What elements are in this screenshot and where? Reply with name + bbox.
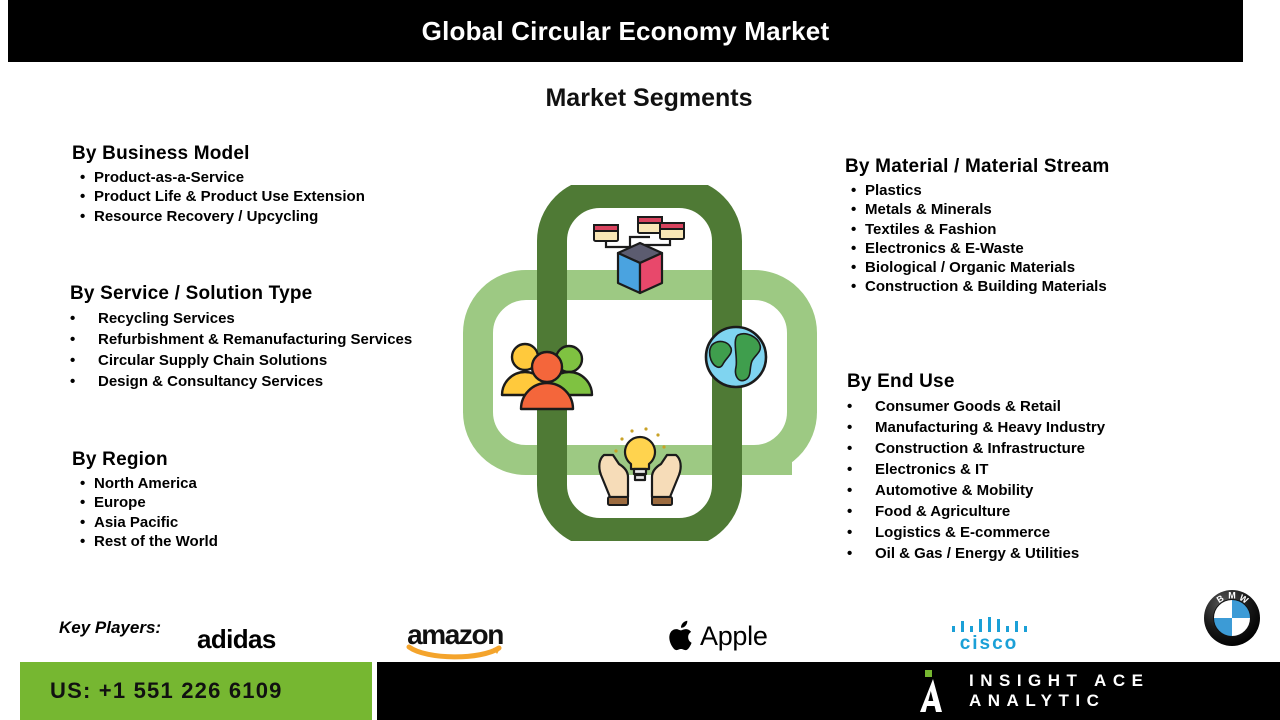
- list-item: •Electronics & E-Waste: [851, 239, 1110, 258]
- list-item: •Europe: [80, 493, 218, 512]
- list-item-label: Biological / Organic Materials: [865, 258, 1075, 277]
- adidas-wordmark: adidas: [197, 624, 276, 654]
- segment-heading: By Service / Solution Type: [70, 283, 412, 305]
- list-item: •North America: [80, 474, 218, 493]
- list-item-label: Consumer Goods & Retail: [875, 396, 1061, 417]
- segment-heading: By Region: [72, 449, 218, 471]
- bullet-icon: •: [80, 532, 94, 551]
- logo-cisco: cisco: [950, 617, 1028, 654]
- list-item-label: Europe: [94, 493, 146, 512]
- segment-material-stream: By Material / Material Stream •Plastics …: [845, 156, 1110, 297]
- list-item: •Plastics: [851, 181, 1110, 200]
- list-item: •Textiles & Fashion: [851, 220, 1110, 239]
- bullet-icon: •: [80, 168, 94, 187]
- segment-heading: By End Use: [847, 371, 1105, 393]
- bullet-icon: •: [847, 459, 875, 480]
- list-item-label: Circular Supply Chain Solutions: [98, 350, 327, 371]
- list-item-label: Product-as-a-Service: [94, 168, 244, 187]
- list-item: •Product Life & Product Use Extension: [80, 187, 365, 206]
- segment-list: •Product-as-a-Service •Product Life & Pr…: [72, 168, 365, 226]
- segment-heading: By Material / Material Stream: [845, 156, 1110, 178]
- list-item: •Logistics & E-commerce: [847, 522, 1105, 543]
- list-item-label: Electronics & IT: [875, 459, 988, 480]
- phone-number[interactable]: US: +1 551 226 6109: [50, 678, 283, 704]
- logo-amazon: amazon: [405, 622, 505, 660]
- bullet-icon: •: [851, 200, 865, 219]
- hands-lightbulb-icon: [599, 427, 680, 505]
- bullet-icon: •: [851, 258, 865, 277]
- segment-service-solution-type: By Service / Solution Type •Recycling Se…: [70, 283, 412, 392]
- list-item: •Resource Recovery / Upcycling: [80, 207, 365, 226]
- list-item: •Oil & Gas / Energy & Utilities: [847, 543, 1105, 564]
- bullet-icon: •: [70, 329, 98, 350]
- list-item-label: Plastics: [865, 181, 922, 200]
- bullet-icon: •: [80, 474, 94, 493]
- bullet-icon: •: [847, 396, 875, 417]
- list-item: •Design & Consultancy Services: [70, 371, 412, 392]
- list-item: •Consumer Goods & Retail: [847, 396, 1105, 417]
- list-item-label: Electronics & E-Waste: [865, 239, 1024, 258]
- list-item: •Construction & Infrastructure: [847, 438, 1105, 459]
- bmw-roundel-icon: B M W: [1203, 589, 1261, 647]
- globe-icon: [706, 327, 766, 387]
- section-title: Market Segments: [0, 84, 1280, 113]
- segment-heading: By Business Model: [72, 143, 365, 165]
- list-item-label: Metals & Minerals: [865, 200, 992, 219]
- cisco-wordmark: cisco: [950, 634, 1028, 654]
- list-item-label: Logistics & E-commerce: [875, 522, 1050, 543]
- bullet-icon: •: [851, 277, 865, 296]
- list-item-label: Manufacturing & Heavy Industry: [875, 417, 1105, 438]
- list-item: •Metals & Minerals: [851, 200, 1110, 219]
- segment-list: •Plastics •Metals & Minerals •Textiles &…: [845, 181, 1110, 297]
- list-item-label: Asia Pacific: [94, 513, 178, 532]
- bullet-icon: •: [70, 350, 98, 371]
- bullet-icon: •: [847, 501, 875, 522]
- segment-business-model: By Business Model •Product-as-a-Service …: [72, 143, 365, 226]
- logo-apple: Apple: [668, 620, 768, 652]
- bullet-icon: •: [70, 308, 98, 329]
- list-item: •Recycling Services: [70, 308, 412, 329]
- amazon-wordmark: amazon: [405, 622, 505, 648]
- key-players-label: Key Players:: [59, 618, 161, 638]
- list-item-label: Textiles & Fashion: [865, 220, 996, 239]
- list-item: •Automotive & Mobility: [847, 480, 1105, 501]
- interlocking-rings-graphic: [462, 185, 818, 541]
- svg-text:M: M: [1228, 591, 1236, 601]
- bullet-icon: •: [847, 522, 875, 543]
- segment-region: By Region •North America •Europe •Asia P…: [72, 449, 218, 551]
- people-group-icon: [502, 344, 592, 409]
- list-item-label: Construction & Infrastructure: [875, 438, 1085, 459]
- page-title: Global Circular Economy Market: [422, 16, 830, 47]
- list-item: •Rest of the World: [80, 532, 218, 551]
- section-title-text: Market Segments: [545, 84, 752, 113]
- segment-end-use: By End Use •Consumer Goods & Retail •Man…: [847, 371, 1105, 564]
- footer-phone-bar[interactable]: US: +1 551 226 6109: [20, 662, 372, 720]
- list-item: •Asia Pacific: [80, 513, 218, 532]
- list-item-label: Automotive & Mobility: [875, 480, 1033, 501]
- bullet-icon: •: [847, 480, 875, 501]
- bullet-icon: •: [70, 371, 98, 392]
- list-item: •Manufacturing & Heavy Industry: [847, 417, 1105, 438]
- bullet-icon: •: [847, 417, 875, 438]
- list-item-label: Food & Agriculture: [875, 501, 1010, 522]
- list-item-label: Refurbishment & Remanufacturing Services: [98, 329, 412, 350]
- footer-brand-bar: INSIGHT ACE ANALYTIC: [377, 662, 1280, 720]
- segment-list: •Recycling Services •Refurbishment & Rem…: [70, 308, 412, 392]
- list-item-label: Product Life & Product Use Extension: [94, 187, 365, 206]
- list-item: •Electronics & IT: [847, 459, 1105, 480]
- list-item: •Product-as-a-Service: [80, 168, 365, 187]
- segment-list: •North America •Europe •Asia Pacific •Re…: [72, 474, 218, 551]
- list-item-label: Design & Consultancy Services: [98, 371, 323, 392]
- bullet-icon: •: [80, 207, 94, 226]
- list-item-label: Resource Recovery / Upcycling: [94, 207, 318, 226]
- header-bar: Global Circular Economy Market: [8, 0, 1243, 62]
- bullet-icon: •: [847, 438, 875, 459]
- bullet-icon: •: [80, 493, 94, 512]
- bullet-icon: •: [851, 220, 865, 239]
- infographic-page: Global Circular Economy Market Market Se…: [0, 0, 1280, 720]
- bullet-icon: •: [851, 181, 865, 200]
- segment-list: •Consumer Goods & Retail •Manufacturing …: [847, 396, 1105, 564]
- bullet-icon: •: [80, 513, 94, 532]
- list-item-label: Rest of the World: [94, 532, 218, 551]
- bullet-icon: •: [80, 187, 94, 206]
- list-item-label: Recycling Services: [98, 308, 235, 329]
- list-item-label: Oil & Gas / Energy & Utilities: [875, 543, 1079, 564]
- list-item: •Refurbishment & Remanufacturing Service…: [70, 329, 412, 350]
- brand-name: INSIGHT ACE ANALYTIC: [969, 671, 1280, 711]
- cisco-bars-icon: [950, 617, 1028, 634]
- list-item: •Construction & Building Materials: [851, 277, 1110, 296]
- apple-wordmark: Apple: [700, 621, 768, 652]
- list-item: •Biological / Organic Materials: [851, 258, 1110, 277]
- list-item: •Circular Supply Chain Solutions: [70, 350, 412, 371]
- logo-adidas: adidas: [197, 624, 276, 655]
- insightace-logo-icon: [917, 670, 951, 712]
- apple-icon: [668, 620, 694, 652]
- list-item: •Food & Agriculture: [847, 501, 1105, 522]
- list-item-label: North America: [94, 474, 197, 493]
- list-item-label: Construction & Building Materials: [865, 277, 1107, 296]
- logo-bmw: B M W: [1203, 589, 1261, 652]
- bullet-icon: •: [851, 239, 865, 258]
- bullet-icon: •: [847, 543, 875, 564]
